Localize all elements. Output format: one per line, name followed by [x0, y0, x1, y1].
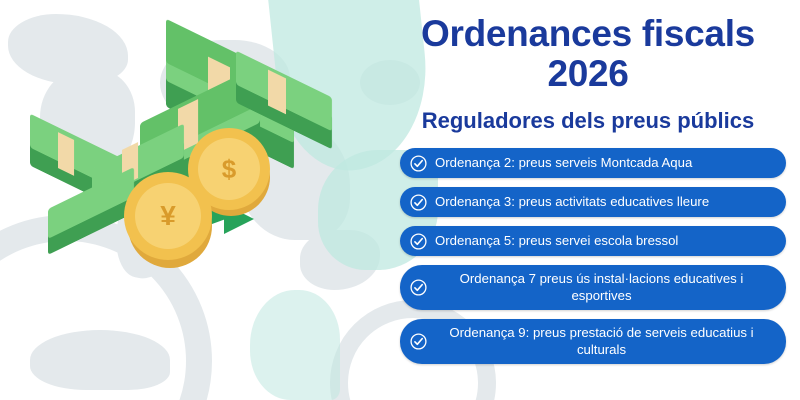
poster: $ ¥ Ordenances fiscals 2026 Reguladores …: [0, 0, 800, 400]
page-title: Ordenances fiscals 2026: [388, 14, 788, 94]
content-column: Ordenances fiscals 2026 Reguladores dels…: [388, 0, 800, 400]
page-title-line2: 2026: [388, 54, 788, 94]
list-item[interactable]: Ordenança 7 preus ús instal·lacions educ…: [400, 265, 786, 310]
coin-symbol-yen: ¥: [135, 183, 201, 249]
banknote-band: [58, 132, 74, 176]
list-item[interactable]: Ordenança 3: preus activitats educatives…: [400, 187, 786, 217]
list-item[interactable]: Ordenança 2: preus serveis Montcada Aqua: [400, 148, 786, 178]
list-item[interactable]: Ordenança 9: preus prestació de serveis …: [400, 319, 786, 364]
list-item-label: Ordenança 5: preus servei escola bressol: [435, 232, 772, 249]
check-circle-icon: [410, 194, 427, 211]
list-item-label: Ordenança 2: preus serveis Montcada Aqua: [435, 154, 772, 171]
list-item[interactable]: Ordenança 5: preus servei escola bressol: [400, 226, 786, 256]
list-item-label: Ordenança 3: preus activitats educatives…: [435, 193, 772, 210]
money-illustration: $ ¥: [20, 50, 380, 330]
coin-yen: ¥: [124, 172, 216, 264]
page-subtitle: Reguladores dels preus públics: [388, 108, 788, 134]
check-circle-icon: [410, 279, 427, 296]
page-title-line1: Ordenances fiscals: [388, 14, 788, 54]
check-circle-icon: [410, 333, 427, 350]
ordinance-list: Ordenança 2: preus serveis Montcada Aqua…: [400, 148, 786, 373]
check-circle-icon: [410, 155, 427, 172]
list-item-label: Ordenança 9: preus prestació de serveis …: [435, 324, 772, 359]
check-circle-icon: [410, 233, 427, 250]
list-item-label: Ordenança 7 preus ús instal·lacions educ…: [435, 270, 772, 305]
